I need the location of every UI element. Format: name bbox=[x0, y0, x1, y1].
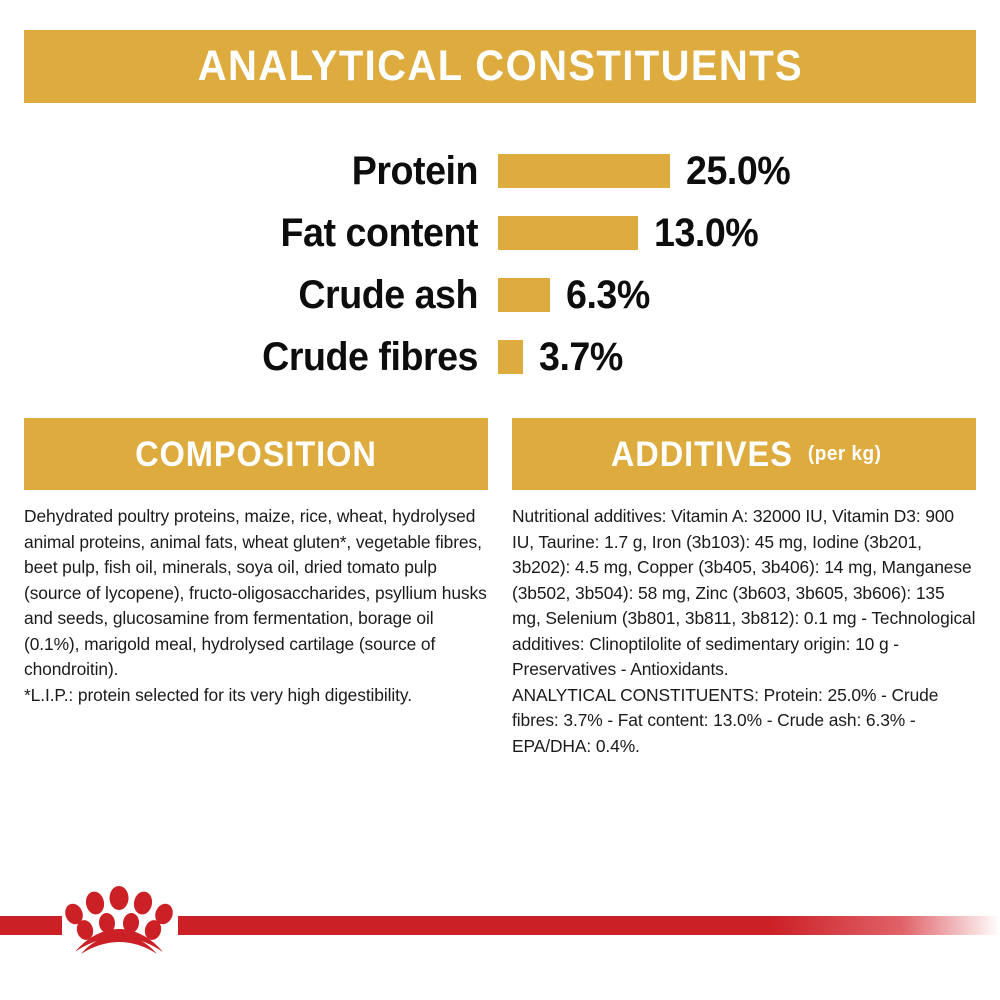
chart-category-label: Crude ash bbox=[29, 275, 478, 315]
chart-category-label: Crude fibres bbox=[29, 337, 478, 377]
chart-bar bbox=[498, 216, 638, 250]
brand-rule-right bbox=[178, 916, 1000, 935]
composition-footnote: *L.I.P.: protein selected for its very h… bbox=[24, 683, 488, 709]
additives-analytical-line: ANALYTICAL CONSTITUENTS: Protein: 25.0% … bbox=[512, 683, 976, 760]
chart-category-label: Protein bbox=[29, 151, 478, 191]
chart-row: Protein 25.0% bbox=[0, 140, 1000, 202]
chart-row: Fat content 13.0% bbox=[0, 202, 1000, 264]
additives-column: ADDITIVES (per kg) Nutritional additives… bbox=[512, 418, 976, 759]
chart-value-label: 25.0% bbox=[686, 151, 790, 191]
additives-header-unit: (per kg) bbox=[808, 444, 881, 464]
chart-bar bbox=[498, 278, 550, 312]
additives-header-title: ADDITIVES bbox=[611, 437, 793, 472]
chart-bar bbox=[498, 154, 670, 188]
brand-rule-left bbox=[0, 916, 62, 935]
chart-value-label: 3.7% bbox=[539, 337, 623, 377]
info-columns: COMPOSITION Dehydrated poultry proteins,… bbox=[24, 418, 976, 759]
chart-value-label: 6.3% bbox=[566, 275, 650, 315]
chart-value-label: 13.0% bbox=[654, 213, 758, 253]
chart-bar-group: 3.7% bbox=[498, 337, 628, 377]
additives-header-band: ADDITIVES (per kg) bbox=[512, 418, 976, 490]
composition-body-text: Dehydrated poultry proteins, maize, rice… bbox=[24, 504, 488, 683]
analytical-constituents-chart: Protein 25.0% Fat content 13.0% Crude as… bbox=[0, 140, 1000, 388]
composition-column: COMPOSITION Dehydrated poultry proteins,… bbox=[24, 418, 488, 759]
chart-row: Crude ash 6.3% bbox=[0, 264, 1000, 326]
chart-bar bbox=[498, 340, 523, 374]
composition-header-title: COMPOSITION bbox=[135, 437, 377, 472]
additives-body-text: Nutritional additives: Vitamin A: 32000 … bbox=[512, 504, 976, 683]
composition-header-band: COMPOSITION bbox=[24, 418, 488, 490]
analytical-constituents-banner: ANALYTICAL CONSTITUENTS bbox=[24, 30, 976, 103]
chart-bar-group: 25.0% bbox=[498, 151, 797, 191]
brand-footer bbox=[0, 876, 1000, 956]
royal-canin-crown-icon bbox=[62, 878, 178, 954]
chart-bar-group: 6.3% bbox=[498, 275, 655, 315]
chart-row: Crude fibres 3.7% bbox=[0, 326, 1000, 388]
page-title: ANALYTICAL CONSTITUENTS bbox=[197, 45, 802, 88]
chart-bar-group: 13.0% bbox=[498, 213, 765, 253]
chart-category-label: Fat content bbox=[29, 213, 478, 253]
